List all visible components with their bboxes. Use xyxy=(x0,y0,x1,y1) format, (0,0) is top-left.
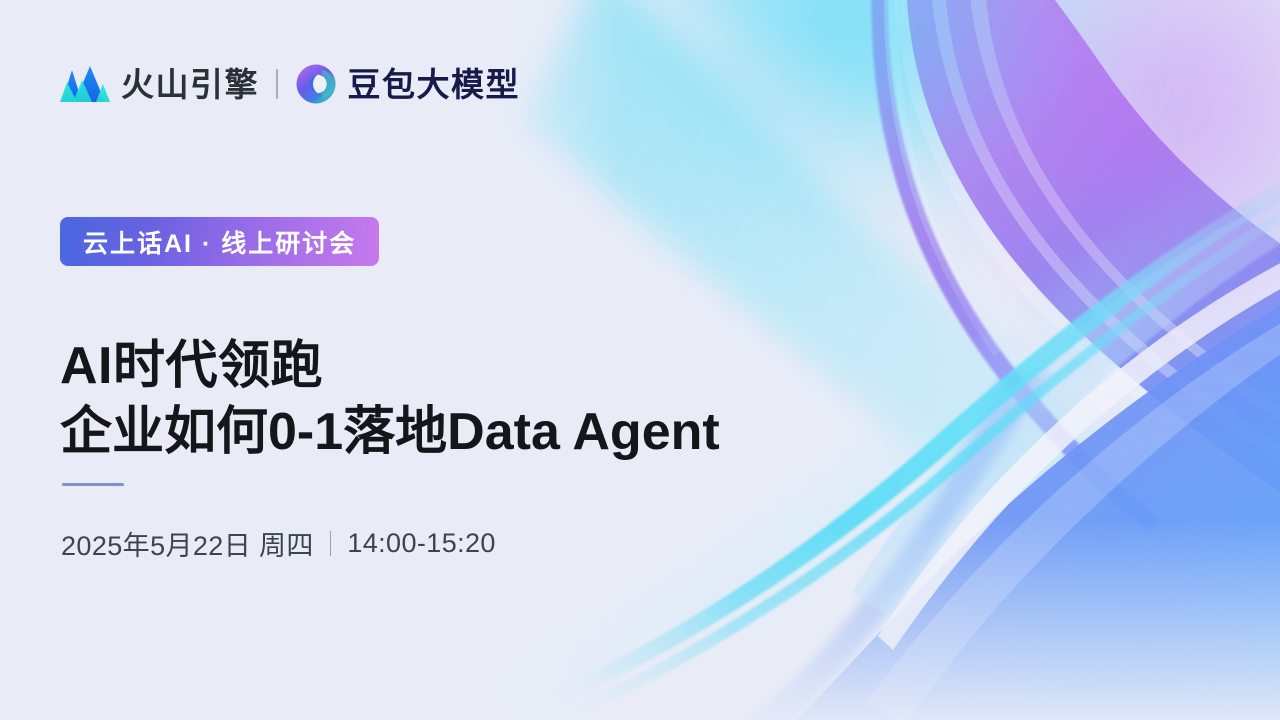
logo-separator xyxy=(276,69,278,99)
doubao-circle-icon xyxy=(295,63,337,105)
page-title: AI时代领跑 企业如何0-1落地Data Agent xyxy=(60,333,720,466)
volcengine-wordmark: 火山引擎 xyxy=(121,68,259,101)
volcano-mountain-icon xyxy=(60,64,110,104)
doubao-wordmark: 豆包大模型 xyxy=(348,68,521,101)
event-datetime: 2025年5月22日 周四 14:00-15:20 xyxy=(61,524,496,563)
headline-line-2: 企业如何0-1落地Data Agent xyxy=(60,399,720,466)
event-time: 14:00-15:20 xyxy=(347,528,496,559)
headline-line-1: AI时代领跑 xyxy=(60,333,720,400)
event-date: 2025年5月22日 周四 xyxy=(61,524,314,563)
event-category-badge: 云上话AI · 线上研讨会 xyxy=(60,217,379,266)
brand-logo-lockup: 火山引擎 豆包大模型 xyxy=(60,56,520,112)
datetime-separator xyxy=(330,531,332,556)
title-divider xyxy=(62,483,124,486)
webinar-poster: 火山引擎 豆包大模型 云上话AI · 线上研讨会 xyxy=(0,0,1280,720)
poster-content: 火山引擎 豆包大模型 云上话AI · 线上研讨会 xyxy=(0,0,1280,720)
